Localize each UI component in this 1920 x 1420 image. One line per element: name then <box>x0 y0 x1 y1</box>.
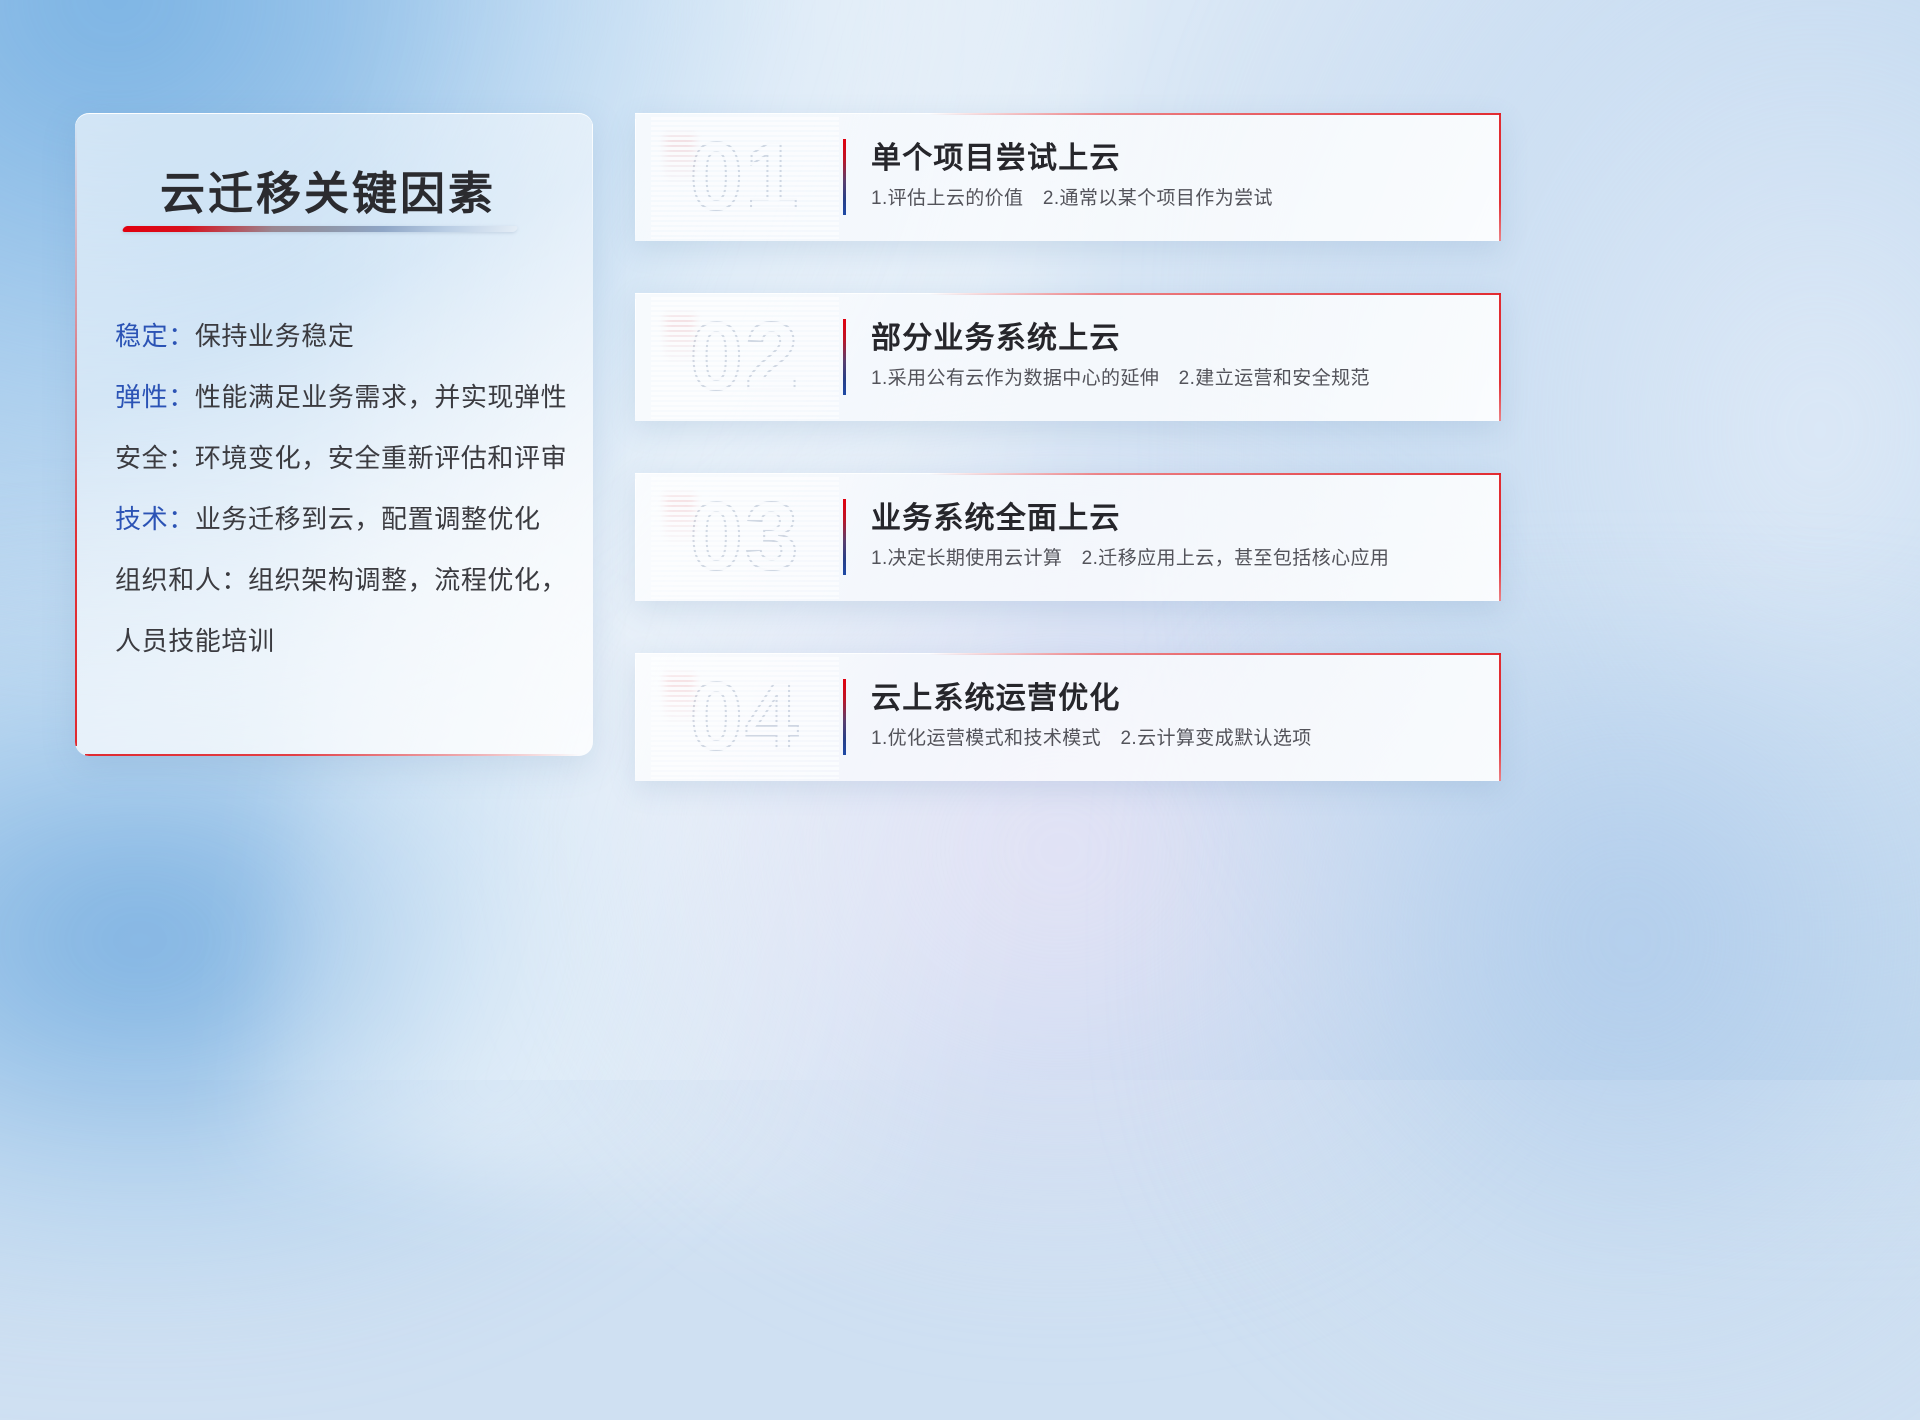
key-factors-panel: 云迁移关键因素 稳定：保持业务稳定 弹性：性能满足业务需求，并实现弹性 安全：环… <box>75 113 593 756</box>
stage-number-tint <box>665 135 695 219</box>
stage-title: 云上系统运营优化 <box>871 673 1121 717</box>
stage-number-tint <box>665 315 695 399</box>
stage-number: 02 <box>657 301 833 413</box>
card-left-highlight <box>635 659 636 775</box>
stage-card-03[interactable]: 03 业务系统全面上云 1.决定长期使用云计算 2.迁移应用上云，甚至包括核心应… <box>635 473 1501 601</box>
card-left-highlight <box>635 299 636 415</box>
card-right-accent <box>1499 653 1501 781</box>
card-divider-bar <box>843 679 846 755</box>
factor-value: 人员技能培训 <box>115 626 275 656</box>
factor-value: 保持业务稳定 <box>195 321 355 351</box>
stage-number: 01 <box>657 121 833 233</box>
factor-label: 稳定： <box>115 321 195 351</box>
stage-card-04[interactable]: 04 云上系统运营优化 1.优化运营模式和技术模式 2.云计算变成默认选项 <box>635 653 1501 781</box>
stage-subtitle: 1.决定长期使用云计算 2.迁移应用上云，甚至包括核心应用 <box>871 543 1389 570</box>
stage-card-list: 01 单个项目尝试上云 1.评估上云的价值 2.通常以某个项目作为尝试 02 部… <box>635 113 1501 833</box>
list-item: 弹性：性能满足业务需求，并实现弹性 <box>115 367 569 428</box>
card-top-accent <box>929 113 1501 115</box>
stage-number: 03 <box>657 481 833 593</box>
panel-bottom-accent <box>85 754 581 756</box>
list-item: 组织和人：组织架构调整，流程优化， <box>115 550 569 611</box>
panel-right-highlight <box>592 115 593 265</box>
factor-label: 安全： <box>115 443 195 473</box>
card-divider-bar <box>843 319 846 395</box>
list-item: 稳定：保持业务稳定 <box>115 306 569 367</box>
card-top-accent <box>929 293 1501 295</box>
stage-number: 04 <box>657 661 833 773</box>
factor-value: 组织架构调整，流程优化， <box>248 565 567 595</box>
stage-subtitle: 1.优化运营模式和技术模式 2.云计算变成默认选项 <box>871 723 1312 750</box>
card-left-highlight <box>635 119 636 235</box>
card-top-accent <box>929 473 1501 475</box>
stage-subtitle: 1.采用公有云作为数据中心的延伸 2.建立运营和安全规范 <box>871 363 1370 390</box>
slide-content: 云迁移关键因素 稳定：保持业务稳定 弹性：性能满足业务需求，并实现弹性 安全：环… <box>0 0 1920 1080</box>
stage-card-01[interactable]: 01 单个项目尝试上云 1.评估上云的价值 2.通常以某个项目作为尝试 <box>635 113 1501 241</box>
factor-value: 环境变化，安全重新评估和评审 <box>195 443 567 473</box>
stage-number-tint <box>665 675 695 759</box>
panel-top-highlight <box>89 113 533 114</box>
stage-subtitle: 1.评估上云的价值 2.通常以某个项目作为尝试 <box>871 183 1273 210</box>
stage-card-02[interactable]: 02 部分业务系统上云 1.采用公有云作为数据中心的延伸 2.建立运营和安全规范 <box>635 293 1501 421</box>
card-divider-bar <box>843 499 846 575</box>
factor-label: 组织和人： <box>115 565 248 595</box>
card-top-accent <box>929 653 1501 655</box>
factor-label: 弹性： <box>115 382 195 412</box>
list-item: 安全：环境变化，安全重新评估和评审 <box>115 428 569 489</box>
card-right-accent <box>1499 473 1501 601</box>
card-right-accent <box>1499 113 1501 241</box>
list-item: 人员技能培训 <box>115 611 569 672</box>
title-gradient-rule <box>122 226 519 232</box>
factor-value: 业务迁移到云，配置调整优化 <box>195 504 541 534</box>
stage-title: 业务系统全面上云 <box>871 493 1121 537</box>
card-right-accent <box>1499 293 1501 421</box>
stage-title: 单个项目尝试上云 <box>871 133 1121 177</box>
stage-number-tint <box>665 495 695 579</box>
page-title: 云迁移关键因素 <box>160 157 496 222</box>
card-left-highlight <box>635 479 636 595</box>
key-factors-list: 稳定：保持业务稳定 弹性：性能满足业务需求，并实现弹性 安全：环境变化，安全重新… <box>115 306 569 672</box>
panel-left-accent <box>75 123 77 746</box>
card-divider-bar <box>843 139 846 215</box>
factor-label: 技术： <box>115 504 195 534</box>
stage-title: 部分业务系统上云 <box>871 313 1121 357</box>
list-item: 技术：业务迁移到云，配置调整优化 <box>115 489 569 550</box>
factor-value: 性能满足业务需求，并实现弹性 <box>195 382 567 412</box>
